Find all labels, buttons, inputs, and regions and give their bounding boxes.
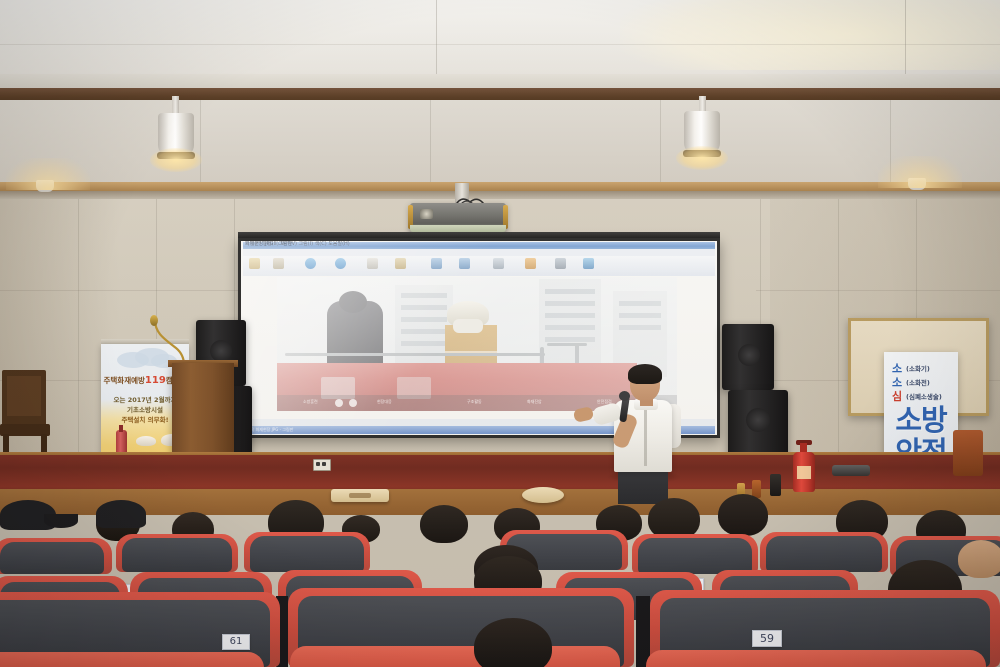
projector-bottom-trim bbox=[410, 225, 506, 232]
seat-cushion bbox=[290, 646, 620, 667]
smoke-detector-icon bbox=[136, 436, 156, 446]
projector-lens bbox=[420, 209, 433, 219]
stage-equipment-case bbox=[832, 465, 870, 476]
wall-seam bbox=[660, 100, 661, 184]
audience-head-front bbox=[474, 618, 552, 667]
seat-back bbox=[0, 542, 104, 574]
seat-back bbox=[638, 538, 752, 574]
pendant-glow bbox=[676, 146, 728, 170]
wooden-tray-prop bbox=[522, 487, 564, 503]
presenter-trousers bbox=[618, 468, 668, 504]
auditorium-photo: 화재현장.JPG - 그림판 파일(F) 편집(E) 보기(V) 그림(I) 색… bbox=[0, 0, 1000, 667]
wall-seam bbox=[838, 199, 839, 457]
audience-head bbox=[718, 494, 768, 536]
wall-seam bbox=[78, 199, 79, 457]
audience-head-profile bbox=[958, 540, 1000, 578]
presenter-hair bbox=[628, 364, 662, 384]
ceiling-light-glow bbox=[620, 0, 1000, 70]
banner-val-1: (소화기) bbox=[906, 363, 930, 373]
speaker-cone bbox=[210, 340, 232, 362]
wall-seam bbox=[200, 100, 201, 184]
uplight-glow bbox=[6, 158, 90, 190]
seat-back bbox=[122, 538, 232, 572]
audience-head bbox=[420, 505, 468, 543]
shirt-placket bbox=[644, 404, 647, 466]
microphone-head-icon bbox=[619, 391, 630, 401]
bottle bbox=[770, 474, 781, 496]
speaker-cone bbox=[746, 408, 770, 432]
wall-seam bbox=[756, 290, 1000, 291]
seat-back bbox=[766, 536, 882, 572]
upper-wall bbox=[0, 100, 1000, 184]
audience-cap bbox=[96, 500, 146, 528]
microphone-head bbox=[150, 315, 158, 326]
extinguisher-label bbox=[797, 466, 811, 479]
seat-back bbox=[250, 536, 364, 572]
soffit-edge-trim bbox=[0, 182, 1000, 191]
wall-seam bbox=[0, 290, 240, 291]
seat-cushion bbox=[646, 650, 986, 667]
wall-seam bbox=[430, 100, 431, 184]
seat-cushion bbox=[0, 652, 264, 667]
seat-number-59: 59 bbox=[752, 630, 782, 647]
banner-val-3: (심폐소생술) bbox=[906, 391, 942, 401]
banner-key-3: 심 bbox=[892, 388, 902, 404]
speaker-cone bbox=[738, 344, 760, 366]
seat-number-61: 61 bbox=[222, 634, 250, 650]
banner-val-2: (소화전) bbox=[906, 377, 930, 387]
uplight-glow bbox=[878, 156, 962, 188]
cap-brim bbox=[44, 514, 78, 528]
pendant-glow bbox=[150, 148, 202, 172]
stage-object-right bbox=[953, 430, 983, 476]
ceiling-seam bbox=[0, 44, 1000, 45]
